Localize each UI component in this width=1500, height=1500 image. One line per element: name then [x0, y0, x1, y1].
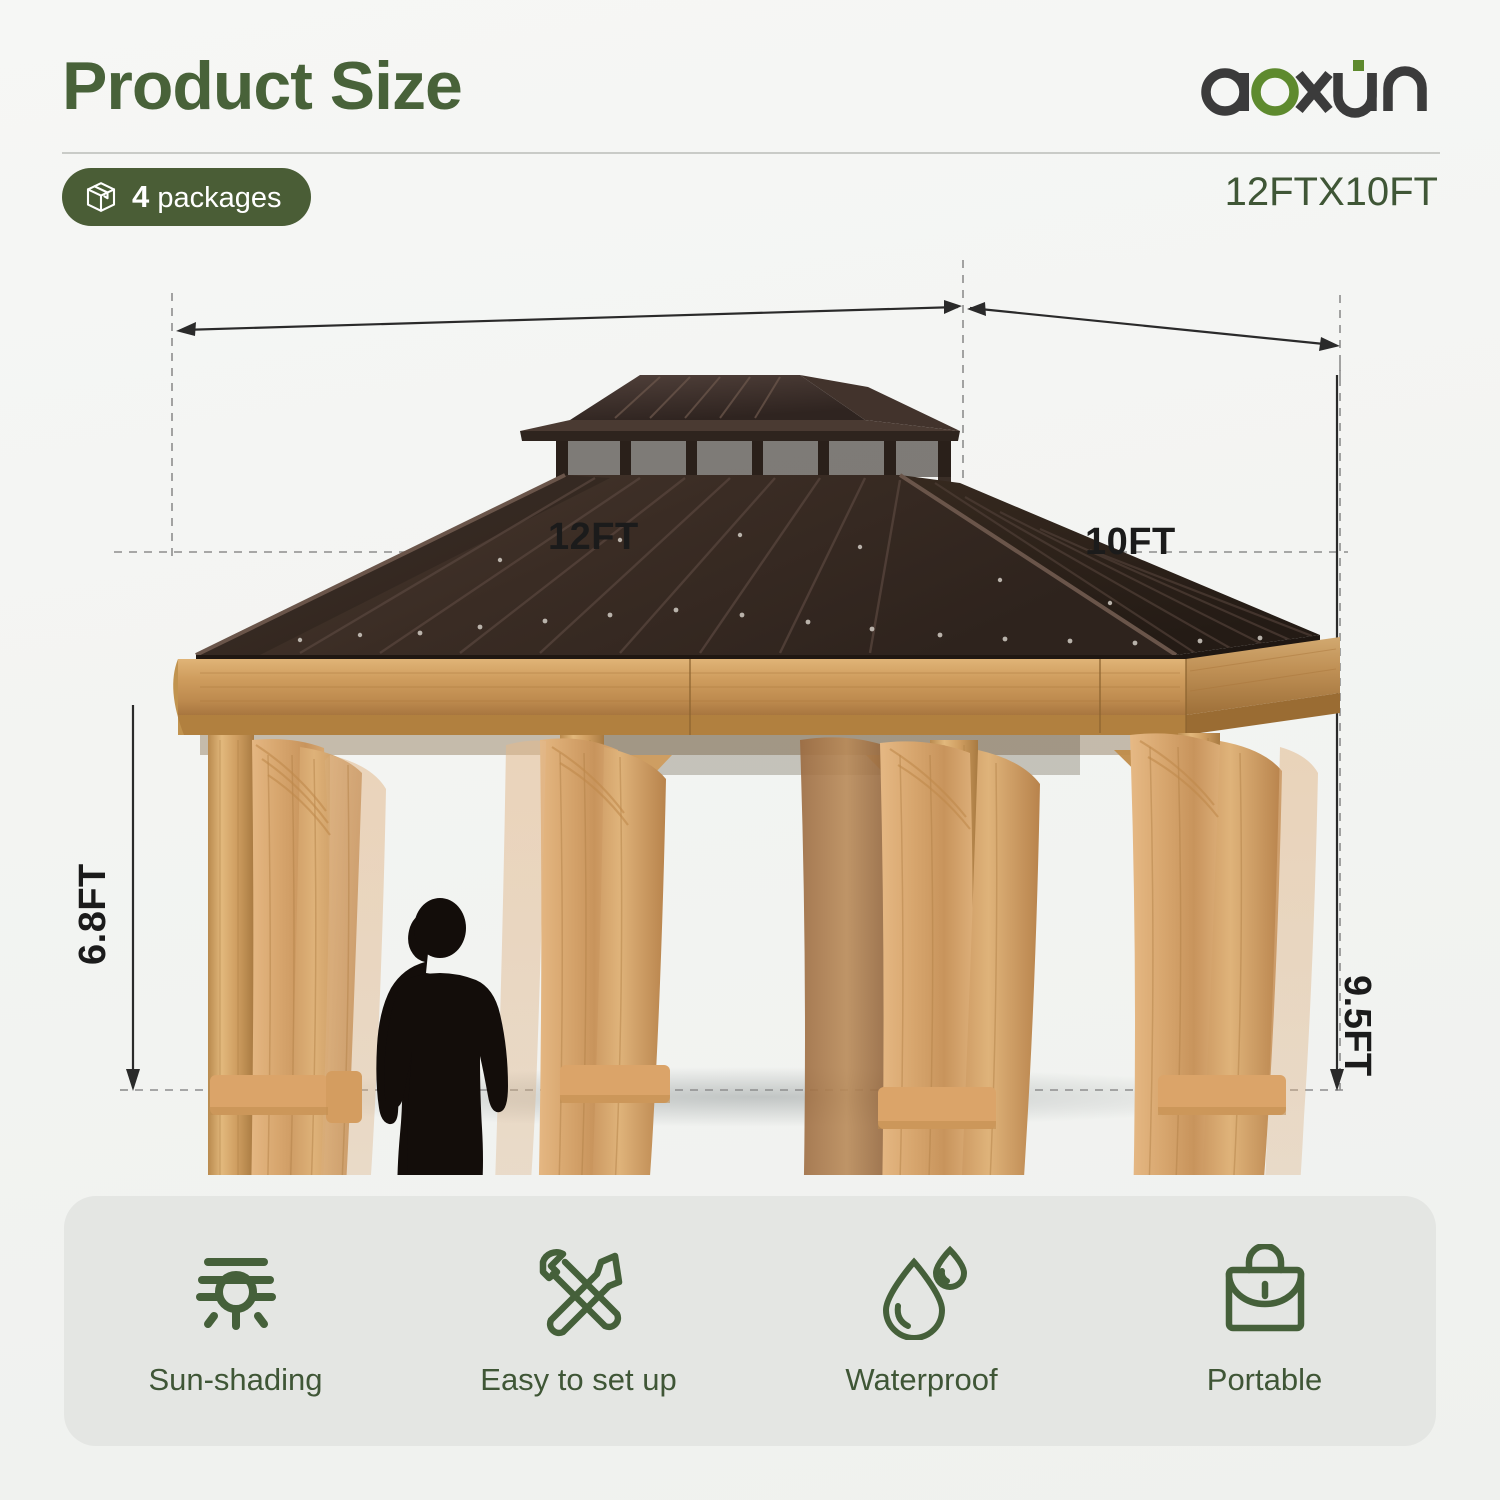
person-silhouette-scale-figure — [372, 898, 508, 1175]
package-count-badge: 4 packages — [62, 168, 311, 226]
feature-highlights-panel: Sun-shading Easy to set up — [64, 1196, 1436, 1446]
feature-label: Portable — [1207, 1362, 1322, 1398]
product-size-infographic: Product Size 4 packages — [0, 0, 1500, 1500]
page-title: Product Size — [62, 52, 462, 120]
brand-logo — [1198, 56, 1438, 122]
feature-label: Waterproof — [845, 1362, 997, 1398]
tools-icon — [531, 1244, 627, 1340]
package-count-label: 4 packages — [132, 181, 281, 213]
feature-sun-shading: Sun-shading — [64, 1244, 407, 1398]
gazebo-structure — [173, 375, 1340, 1175]
cupola-roof — [520, 375, 960, 485]
package-box-icon — [84, 180, 118, 214]
feature-label: Easy to set up — [480, 1362, 676, 1398]
sun-shading-icon — [188, 1244, 284, 1340]
gazebo-dimension-diagram: 12FT 10FT 6.8FT 9.5FT — [0, 235, 1500, 1175]
peak-height-label: 9.5FT — [1335, 975, 1378, 1077]
gazebo-illustration — [0, 235, 1500, 1175]
clearance-height-label: 6.8FT — [72, 863, 115, 965]
width-dimension-arrows — [182, 307, 1334, 345]
package-count-unit: packages — [157, 182, 281, 214]
feature-portable: Portable — [1093, 1244, 1436, 1398]
product-size-label: 12FTX10FT — [1225, 170, 1438, 215]
width-dimension-label: 12FT — [548, 516, 639, 559]
briefcase-icon — [1217, 1244, 1313, 1340]
header-divider — [62, 152, 1440, 154]
depth-dimension-label: 10FT — [1085, 521, 1176, 564]
package-count-number: 4 — [132, 179, 149, 214]
header: Product Size 4 packages — [0, 0, 1500, 235]
water-drop-icon — [874, 1244, 970, 1340]
feature-label: Sun-shading — [148, 1362, 322, 1398]
feature-waterproof: Waterproof — [750, 1244, 1093, 1398]
main-roof — [196, 475, 1320, 666]
feature-easy-setup: Easy to set up — [407, 1244, 750, 1398]
